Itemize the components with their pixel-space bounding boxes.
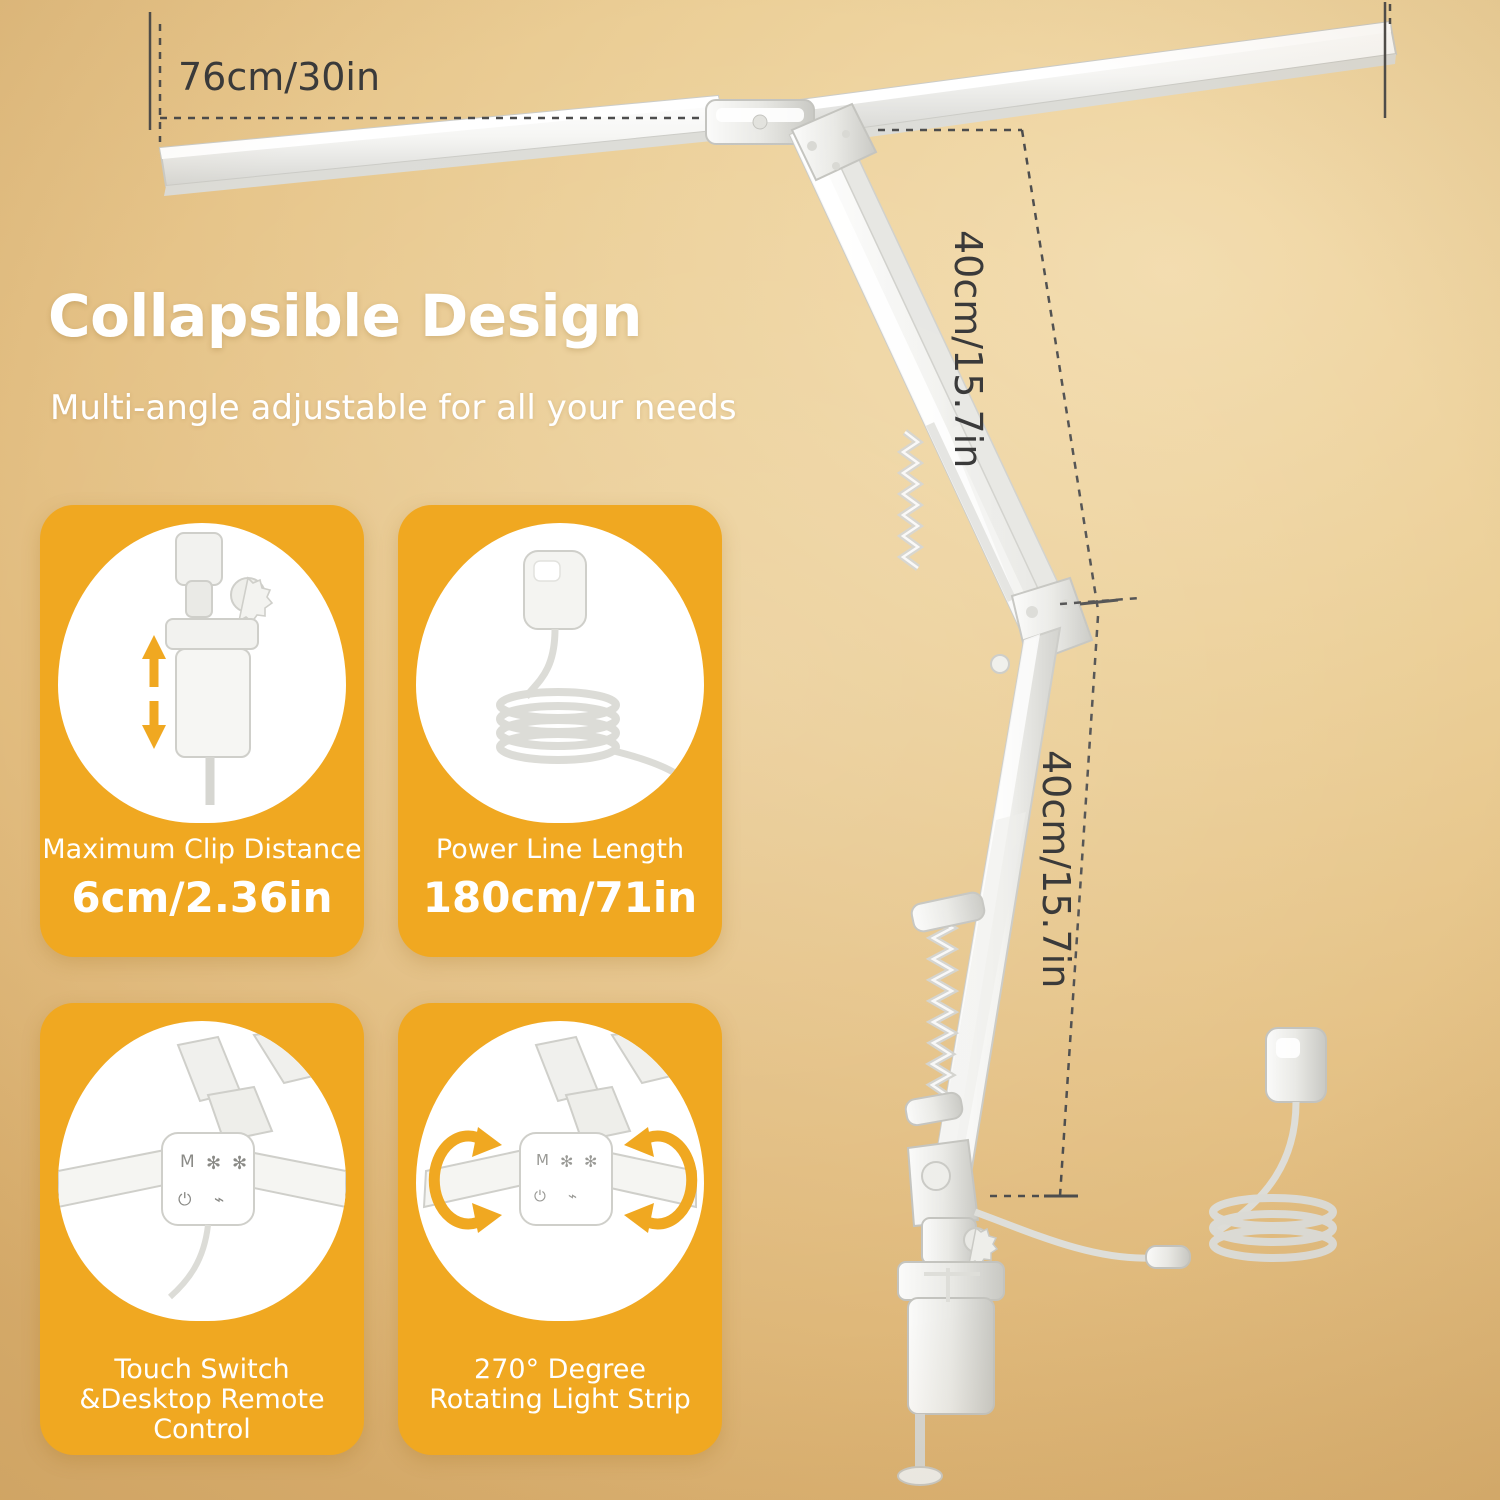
- coiled-cord-icon: [500, 692, 616, 760]
- touch-control-icon: M ✻ ✻ ⏻ ⌁: [58, 1021, 346, 1321]
- card-caption: Power Line Length: [398, 835, 722, 865]
- svg-text:✻: ✻: [584, 1152, 597, 1171]
- clip-distance-photo: [58, 523, 346, 823]
- dimension-label-upper-arm: 40cm/15.7in: [946, 230, 990, 468]
- svg-text:✻: ✻: [560, 1152, 573, 1171]
- card-caption: Touch Switch &Desktop Remote Control: [40, 1355, 364, 1446]
- svg-text:⏻: ⏻: [534, 1187, 546, 1205]
- power-adapter-icon: [416, 523, 704, 823]
- svg-text:✻: ✻: [232, 1153, 247, 1174]
- svg-text:✻: ✻: [206, 1153, 221, 1174]
- svg-text:M: M: [180, 1152, 195, 1172]
- feature-card-clip-distance: Maximum Clip Distance 6cm/2.36in: [40, 505, 364, 957]
- rotating-strip-photo: M ✻ ✻ ⏻ ⌁: [416, 1021, 704, 1321]
- page-title: Collapsible Design: [48, 282, 642, 350]
- dimension-label-width: 76cm/30in: [178, 55, 380, 99]
- svg-text:⏻: ⏻: [178, 1190, 192, 1210]
- feature-card-power-line: Power Line Length 180cm/71in: [398, 505, 722, 957]
- power-line-photo: [416, 523, 704, 823]
- dimension-label-lower-arm: 40cm/15.7in: [1034, 750, 1078, 988]
- page-subtitle: Multi-angle adjustable for all your need…: [50, 388, 737, 428]
- card-value: 6cm/2.36in: [40, 873, 364, 922]
- rotation-arrows-icon: M ✻ ✻ ⏻ ⌁: [416, 1021, 704, 1321]
- desk-clamp-icon: [58, 523, 346, 823]
- svg-text:M: M: [536, 1151, 549, 1169]
- svg-text:⌁: ⌁: [568, 1187, 577, 1205]
- svg-text:⌁: ⌁: [214, 1190, 224, 1210]
- touch-switch-photo: M ✻ ✻ ⏻ ⌁: [58, 1021, 346, 1321]
- card-caption: 270° Degree Rotating Light Strip: [398, 1355, 722, 1415]
- feature-card-touch-switch: M ✻ ✻ ⏻ ⌁ Touch Switch &Desktop Remote C…: [40, 1003, 364, 1455]
- up-down-arrow-icon: [142, 635, 166, 749]
- feature-card-rotating-strip: M ✻ ✻ ⏻ ⌁ 270° Degree Rotating Light Str…: [398, 1003, 722, 1455]
- card-value: 180cm/71in: [398, 873, 722, 922]
- card-caption: Maximum Clip Distance: [40, 835, 364, 865]
